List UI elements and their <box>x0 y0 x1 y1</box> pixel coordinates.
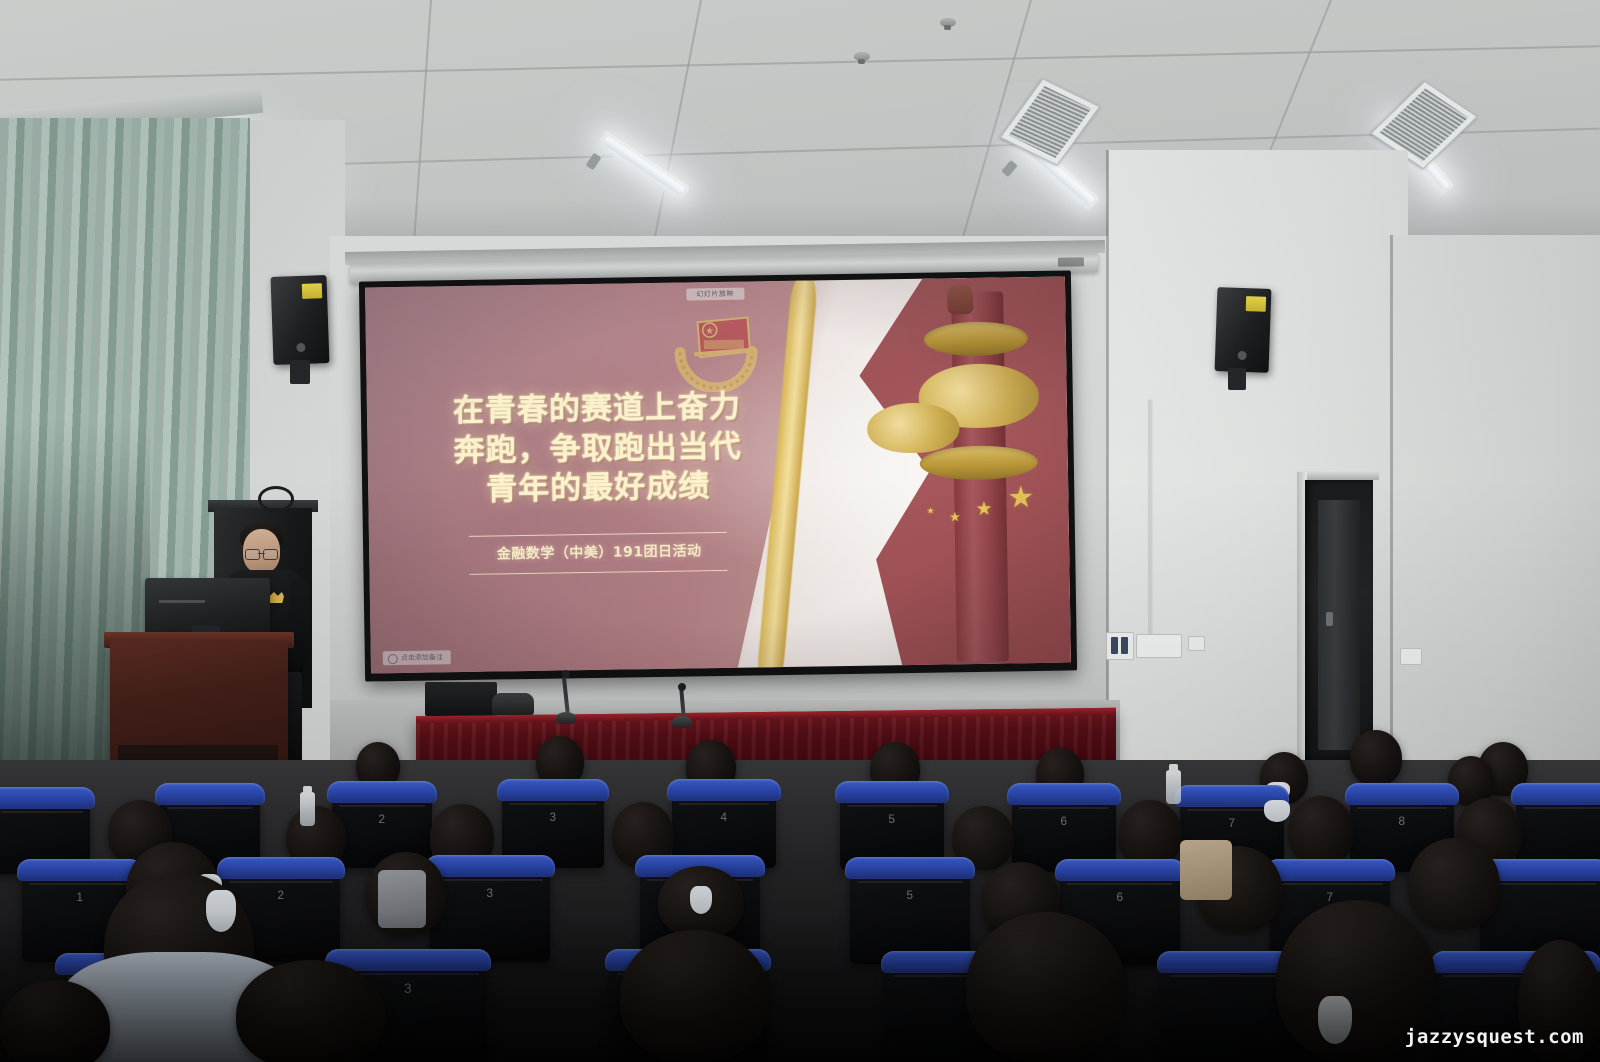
seat-number: 2 <box>222 888 340 902</box>
projection-screen: ★ ★ ★ ★ ★ <box>359 270 1077 681</box>
stage-equipment-box-2 <box>492 693 534 715</box>
seat-number: 3 <box>430 886 550 900</box>
slideshow-mode-chip[interactable]: 幻灯片放映 <box>686 288 744 301</box>
presenter-arm <box>290 578 309 668</box>
speaker-knob-right <box>1237 351 1246 360</box>
seat-number: 8 <box>1350 814 1454 828</box>
housing-label <box>1058 257 1084 266</box>
speaker-label-left <box>302 283 323 299</box>
seat-number: 4 <box>672 810 776 824</box>
watermark: jazzysquest.com <box>1405 1026 1584 1048</box>
seat-number: 3 <box>502 810 604 824</box>
seat[interactable]: 5 <box>850 866 970 964</box>
face-mask <box>1264 800 1290 822</box>
wall-plate-blank[interactable] <box>1136 634 1182 658</box>
smoke-detector-1 <box>854 52 870 61</box>
seat-number: 2 <box>332 812 432 826</box>
wall-corner-shadow <box>1390 235 1393 795</box>
speaker-mount-right <box>1228 368 1246 390</box>
wall-speaker-right <box>1215 287 1272 373</box>
wall-conduit <box>1148 400 1151 638</box>
water-bottle <box>300 792 315 826</box>
light-switch-panel[interactable] <box>1106 632 1134 660</box>
wall-speaker-left <box>270 275 329 365</box>
door-handle[interactable] <box>1326 612 1333 626</box>
backpack-2 <box>378 870 426 928</box>
lecture-hall-photo: ★ ★ ★ ★ ★ <box>0 0 1600 1062</box>
seat-number: 5 <box>840 812 944 826</box>
door-header <box>1297 470 1379 480</box>
face-mask <box>1318 996 1352 1044</box>
notes-placeholder-chip[interactable]: 点击添加备注 <box>383 650 451 665</box>
coiled-cable <box>258 486 294 512</box>
speaker-mount-left <box>290 360 310 384</box>
speaker-label-right <box>1246 296 1267 312</box>
water-bottle-2 <box>1166 770 1181 804</box>
wall-corner-shadow-2 <box>1106 150 1109 790</box>
face-mask <box>690 886 712 914</box>
stage-equipment-box <box>425 682 497 716</box>
wall-outlet-2[interactable] <box>1400 648 1422 665</box>
face-mask <box>206 890 236 932</box>
door-panel[interactable] <box>1318 500 1360 750</box>
seat-number: 5 <box>850 888 970 902</box>
backpack <box>1180 840 1232 900</box>
presentation-slide: ★ ★ ★ ★ ★ <box>365 277 1071 674</box>
wall-outlet[interactable] <box>1188 636 1205 651</box>
presenter-glasses <box>245 549 278 558</box>
seat-number: 6 <box>1012 814 1116 828</box>
far-right-wall <box>1390 235 1600 795</box>
seat[interactable]: 3 <box>430 864 550 962</box>
smoke-detector-2 <box>940 18 956 27</box>
seat-number: 6 <box>1060 890 1180 904</box>
speaker-knob-left <box>296 343 305 352</box>
